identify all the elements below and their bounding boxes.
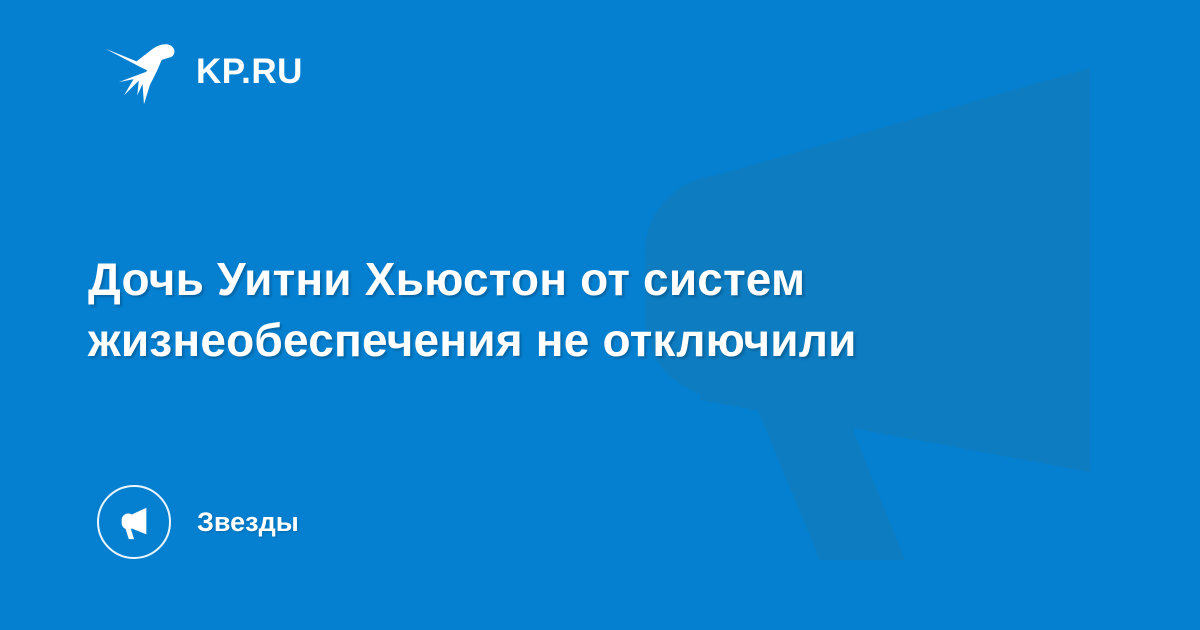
category-tag[interactable]: Звезды (97, 485, 299, 559)
headline-title: Дочь Уитни Хьюстон от систем жизнеобеспе… (88, 249, 1088, 370)
swallow-bird-icon (104, 36, 178, 106)
social-share-card: KP.RU Дочь Уитни Хьюстон от систем жизне… (0, 0, 1200, 630)
category-badge[interactable] (97, 485, 171, 559)
category-label: Звезды (197, 509, 299, 536)
brand-logo[interactable]: KP.RU (104, 36, 303, 106)
megaphone-icon (115, 503, 153, 541)
brand-name: KP.RU (196, 54, 303, 89)
